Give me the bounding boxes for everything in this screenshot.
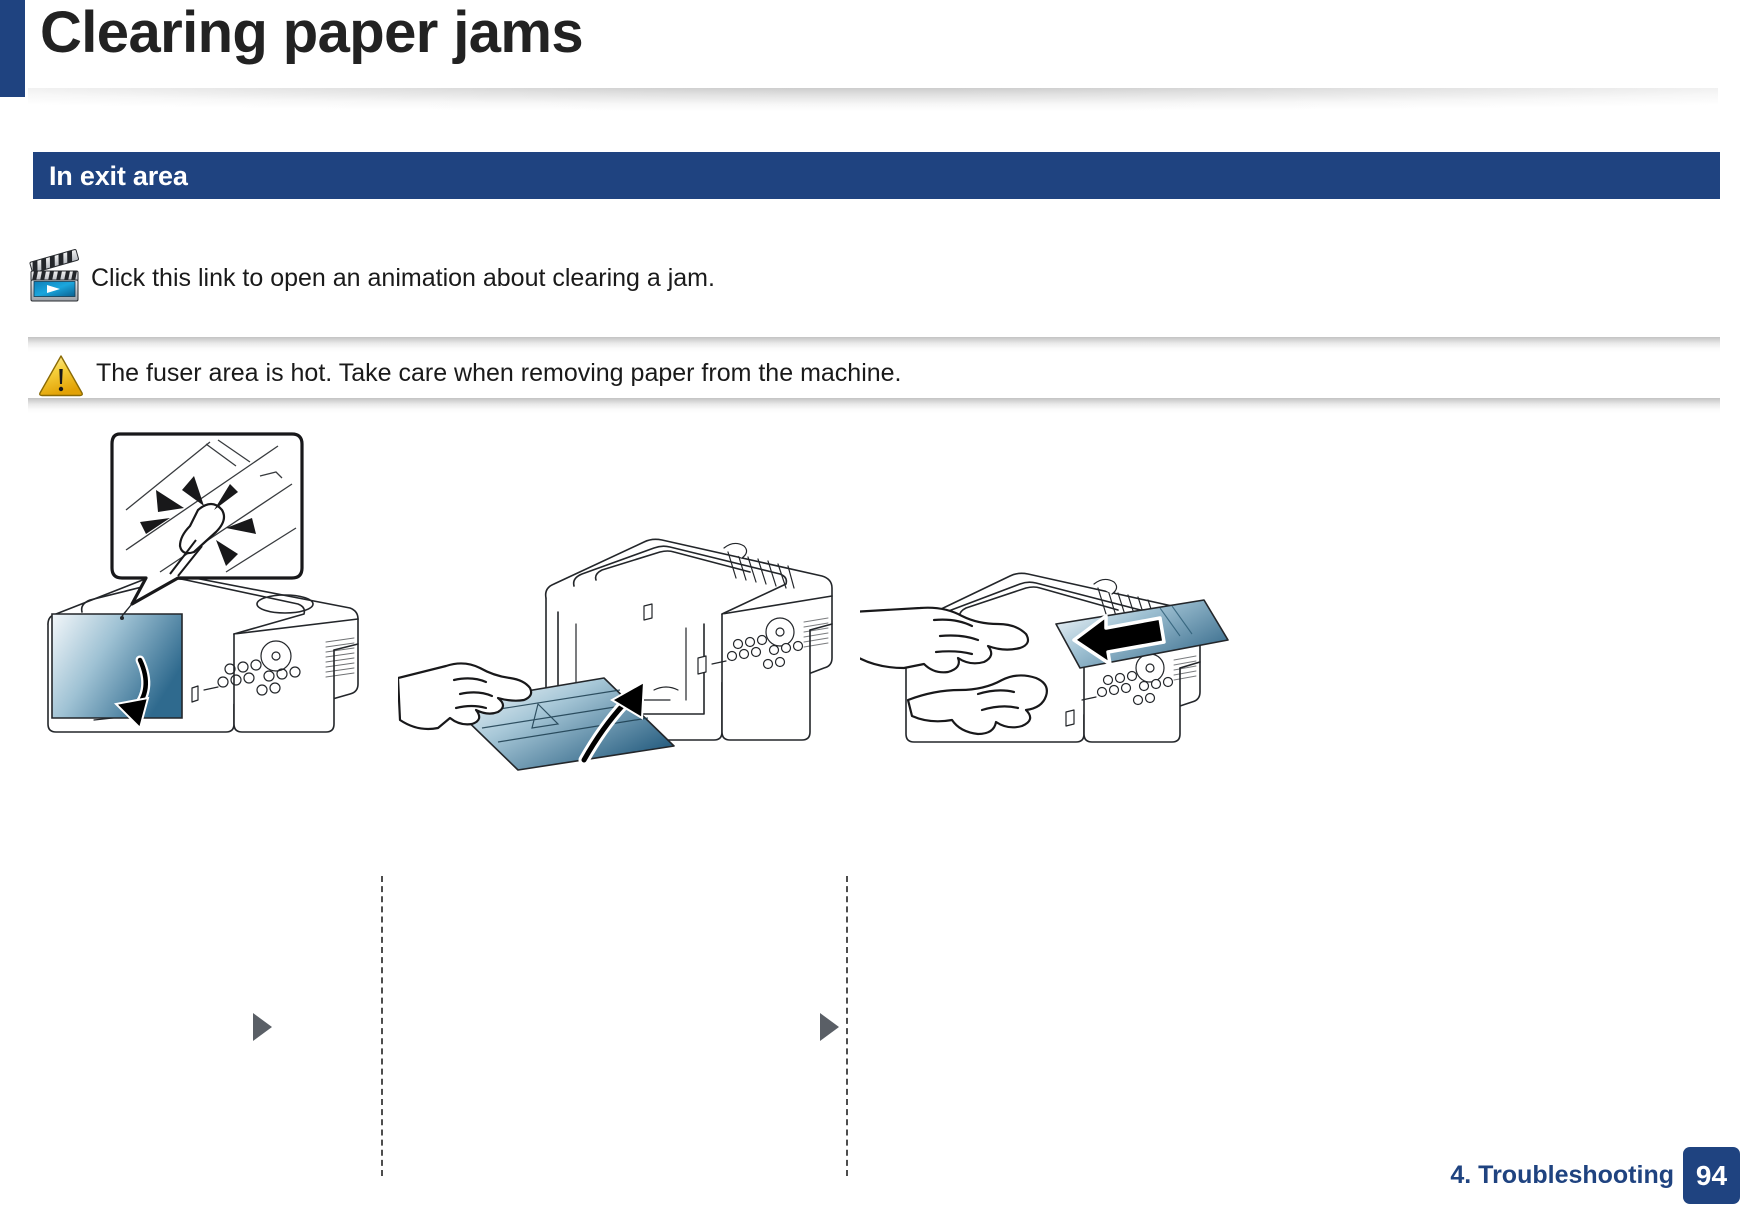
warning-triangle-icon [36, 352, 86, 398]
page-header: Clearing paper jams [0, 0, 1748, 112]
caution-text: The fuser area is hot. Take care when re… [96, 359, 902, 388]
footer-page-badge: 94 [1683, 1147, 1740, 1204]
animation-link-row[interactable]: Click this link to open an animation abo… [28, 248, 1028, 308]
caution-divider-bottom [28, 398, 1720, 414]
caution-row: The fuser area is hot. Take care when re… [28, 352, 1028, 402]
right-triangle-arrow-icon [253, 1013, 272, 1041]
page-title: Clearing paper jams [40, 2, 583, 65]
right-triangle-arrow-icon [820, 1013, 839, 1041]
illustration-step-3 [860, 428, 1280, 778]
animation-link-text[interactable]: Click this link to open an animation abo… [91, 264, 715, 293]
page-footer: 4. Troubleshooting 94 [0, 1107, 1748, 1227]
title-underline-divider [28, 88, 1718, 116]
footer-chapter-label: 4. Troubleshooting [1450, 1161, 1674, 1190]
illustration-strip [0, 428, 1748, 778]
section-heading-bar: In exit area [33, 152, 1720, 199]
illustration-step-1 [30, 428, 378, 778]
movie-clapper-icon[interactable] [28, 248, 90, 304]
illustration-step-2 [398, 428, 838, 778]
footer-page-number: 94 [1683, 1147, 1740, 1204]
section-heading-label: In exit area [49, 161, 188, 192]
caution-divider-top [28, 337, 1720, 353]
title-accent-bar [0, 0, 25, 97]
